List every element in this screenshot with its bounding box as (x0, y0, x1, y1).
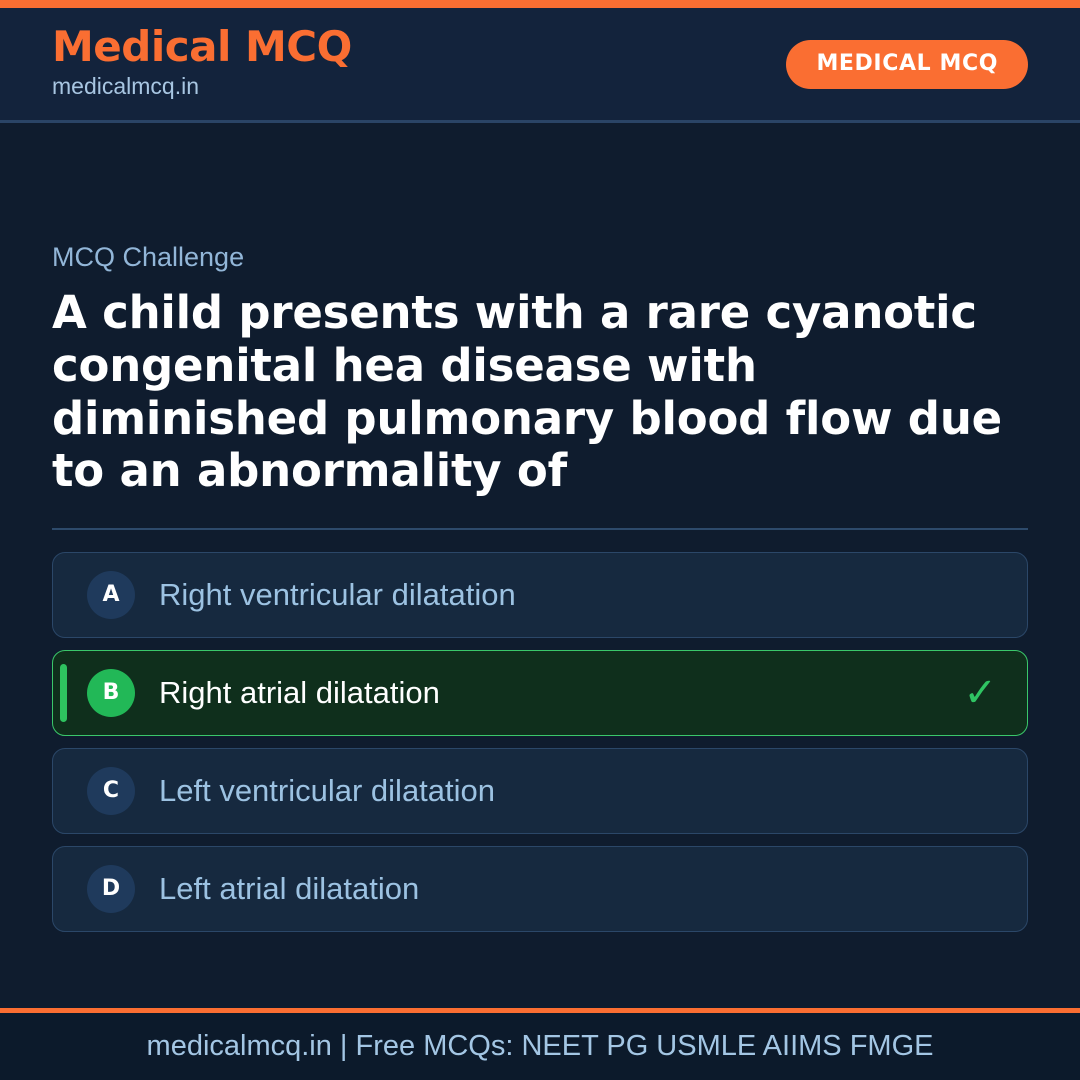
option-a-label: Right ventricular dilatation (159, 578, 516, 612)
option-a-letter-badge: A (87, 571, 135, 619)
option-c[interactable]: C Left ventricular dilatation (52, 748, 1028, 834)
section-divider (52, 528, 1028, 530)
top-accent-bar (0, 0, 1080, 8)
correct-accent-bar (60, 664, 67, 722)
page-header: Medical MCQ medicalmcq.in MEDICAL MCQ (0, 8, 1080, 123)
option-b-label: Right atrial dilatation (159, 676, 440, 710)
page-footer: medicalmcq.in | Free MCQs: NEET PG USMLE… (0, 1008, 1080, 1080)
option-d-letter-badge: D (87, 865, 135, 913)
option-a[interactable]: A Right ventricular dilatation (52, 552, 1028, 638)
option-d[interactable]: D Left atrial dilatation (52, 846, 1028, 932)
brand-title: Medical MCQ (52, 25, 352, 69)
footer-text: medicalmcq.in | Free MCQs: NEET PG USMLE… (147, 1032, 934, 1061)
brand-subtitle: medicalmcq.in (52, 72, 352, 102)
mcq-poster: Medical MCQ medicalmcq.in MEDICAL MCQ MC… (0, 0, 1080, 1080)
option-c-label: Left ventricular dilatation (159, 774, 495, 808)
header-badge: MEDICAL MCQ (786, 40, 1028, 89)
options-list: A Right ventricular dilatation B Right a… (52, 552, 1028, 932)
option-b[interactable]: B Right atrial dilatation ✓ (52, 650, 1028, 736)
option-d-label: Left atrial dilatation (159, 872, 419, 906)
check-icon: ✓ (963, 673, 997, 713)
main-content: MCQ Challenge A child presents with a ra… (0, 123, 1080, 1008)
brand-block: Medical MCQ medicalmcq.in (52, 25, 352, 102)
option-b-letter-badge: B (87, 669, 135, 717)
question-text: A child presents with a rare cyanotic co… (52, 287, 1028, 498)
option-c-letter-badge: C (87, 767, 135, 815)
kicker-label: MCQ Challenge (52, 241, 1028, 273)
